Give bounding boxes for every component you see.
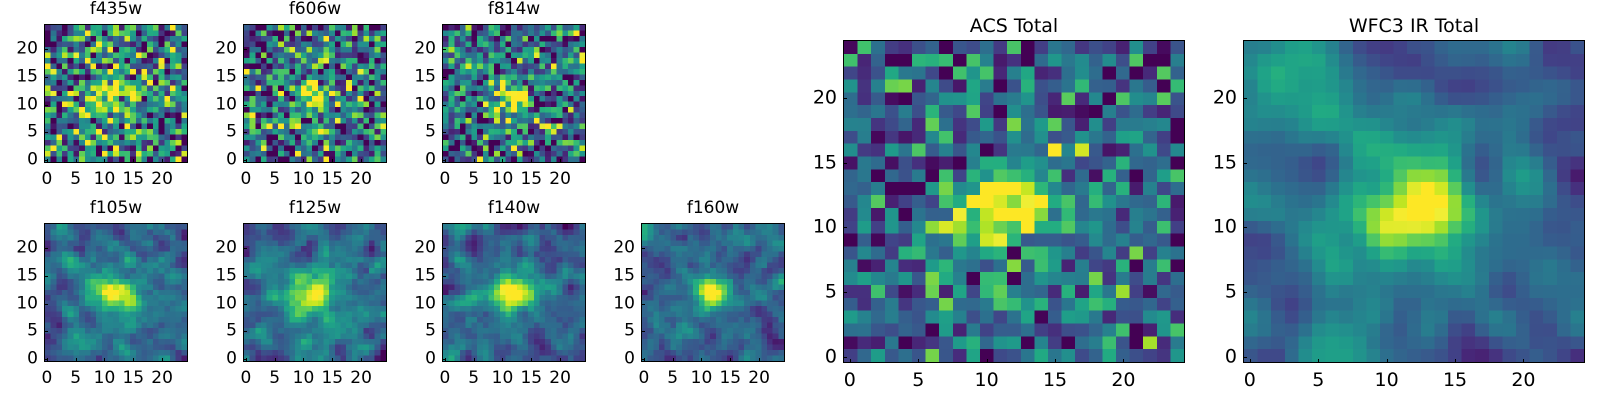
ytick-label-f160w-10: 10 — [601, 295, 635, 312]
xtick-mark-f105w-15 — [133, 358, 134, 362]
panel-wfc3-ir-total: WFC3 IR Total0510152005101520 — [1203, 14, 1585, 389]
heatmap-axes-f160w — [641, 223, 785, 362]
xtick-label-f125w-0: 0 — [240, 370, 251, 387]
heatmap-image-f814w — [443, 25, 585, 162]
ytick-label-f606w-15: 15 — [203, 68, 237, 85]
ytick-label-f105w-0: 0 — [4, 351, 38, 368]
ytick-mark-acs-total-5 — [843, 292, 847, 293]
xtick-mark-f814w-10 — [502, 159, 503, 163]
ytick-mark-f606w-15 — [243, 77, 247, 78]
heatmap-image-f105w — [45, 224, 187, 361]
xtick-mark-f606w-10 — [303, 159, 304, 163]
ytick-mark-f140w-0 — [442, 359, 446, 360]
panel-title-f125w: f125w — [243, 200, 387, 217]
xtick-label-acs-total-5: 5 — [912, 371, 924, 390]
xtick-label-wfc3-ir-total-20: 20 — [1511, 371, 1535, 390]
panel-f140w: f140w0510152005101520 — [402, 197, 586, 388]
ytick-label-f125w-20: 20 — [203, 240, 237, 257]
ytick-mark-f105w-0 — [44, 359, 48, 360]
xtick-label-f125w-10: 10 — [293, 370, 315, 387]
xtick-label-wfc3-ir-total-5: 5 — [1312, 371, 1324, 390]
xtick-mark-wfc3-ir-total-5 — [1318, 359, 1319, 363]
xtick-mark-f125w-5 — [275, 358, 276, 362]
ytick-label-f435w-15: 15 — [4, 68, 38, 85]
ytick-label-f125w-10: 10 — [203, 295, 237, 312]
heatmap-axes-f125w — [243, 223, 387, 362]
xtick-mark-f160w-15 — [730, 358, 731, 362]
xtick-label-acs-total-20: 20 — [1111, 371, 1135, 390]
xtick-label-f814w-0: 0 — [439, 171, 450, 188]
xtick-mark-acs-total-20 — [1123, 359, 1124, 363]
ytick-label-acs-total-20: 20 — [803, 89, 837, 108]
ytick-label-wfc3-ir-total-10: 10 — [1203, 218, 1237, 237]
ytick-mark-wfc3-ir-total-10 — [1243, 227, 1247, 228]
ytick-mark-wfc3-ir-total-15 — [1243, 163, 1247, 164]
xtick-label-f125w-15: 15 — [321, 370, 343, 387]
ytick-label-f160w-20: 20 — [601, 240, 635, 257]
panel-title-f140w: f140w — [442, 200, 586, 217]
xtick-mark-f814w-20 — [560, 159, 561, 163]
ytick-label-f814w-10: 10 — [402, 96, 436, 113]
xtick-label-f160w-10: 10 — [691, 370, 713, 387]
panel-f105w: f105w0510152005101520 — [4, 197, 188, 388]
ytick-mark-f435w-15 — [44, 77, 48, 78]
xtick-mark-f435w-5 — [76, 159, 77, 163]
ytick-label-f160w-5: 5 — [601, 323, 635, 340]
ytick-label-f105w-20: 20 — [4, 240, 38, 257]
ytick-mark-f160w-0 — [641, 359, 645, 360]
xtick-label-wfc3-ir-total-10: 10 — [1375, 371, 1399, 390]
xtick-label-f435w-5: 5 — [70, 171, 81, 188]
xtick-mark-f606w-5 — [275, 159, 276, 163]
ytick-mark-acs-total-15 — [843, 163, 847, 164]
xtick-mark-f160w-10 — [701, 358, 702, 362]
xtick-label-f606w-15: 15 — [321, 171, 343, 188]
panel-f160w: f160w0510152005101520 — [601, 197, 785, 388]
ytick-label-f125w-0: 0 — [203, 351, 237, 368]
xtick-label-f606w-0: 0 — [240, 171, 251, 188]
ytick-mark-f160w-20 — [641, 248, 645, 249]
ytick-label-wfc3-ir-total-20: 20 — [1203, 89, 1237, 108]
ytick-label-wfc3-ir-total-0: 0 — [1203, 347, 1237, 366]
xtick-mark-f435w-20 — [162, 159, 163, 163]
ytick-mark-acs-total-0 — [843, 357, 847, 358]
xtick-mark-f140w-10 — [502, 358, 503, 362]
xtick-label-f140w-5: 5 — [468, 370, 479, 387]
ytick-mark-f140w-15 — [442, 276, 446, 277]
ytick-mark-f606w-20 — [243, 49, 247, 50]
heatmap-axes-f606w — [243, 24, 387, 163]
xtick-mark-f160w-20 — [759, 358, 760, 362]
xtick-label-f814w-15: 15 — [520, 171, 542, 188]
xtick-label-f814w-10: 10 — [492, 171, 514, 188]
ytick-mark-acs-total-10 — [843, 227, 847, 228]
xtick-label-f435w-10: 10 — [94, 171, 116, 188]
heatmap-image-f606w — [244, 25, 386, 162]
xtick-label-f105w-0: 0 — [41, 370, 52, 387]
ytick-mark-f606w-10 — [243, 105, 247, 106]
xtick-label-f435w-15: 15 — [122, 171, 144, 188]
xtick-label-f160w-0: 0 — [638, 370, 649, 387]
ytick-label-f606w-5: 5 — [203, 124, 237, 141]
xtick-label-f125w-5: 5 — [269, 370, 280, 387]
ytick-label-f435w-5: 5 — [4, 124, 38, 141]
ytick-mark-f606w-5 — [243, 132, 247, 133]
xtick-label-f105w-10: 10 — [94, 370, 116, 387]
ytick-mark-f105w-5 — [44, 331, 48, 332]
panel-acs-total: ACS Total0510152005101520 — [803, 14, 1185, 389]
ytick-label-wfc3-ir-total-15: 15 — [1203, 153, 1237, 172]
heatmap-axes-acs-total — [843, 40, 1185, 363]
xtick-label-f105w-15: 15 — [122, 370, 144, 387]
ytick-label-f160w-15: 15 — [601, 267, 635, 284]
xtick-mark-f814w-5 — [474, 159, 475, 163]
ytick-label-f105w-15: 15 — [4, 267, 38, 284]
ytick-label-f814w-0: 0 — [402, 152, 436, 169]
ytick-mark-f160w-15 — [641, 276, 645, 277]
ytick-mark-f105w-10 — [44, 304, 48, 305]
xtick-label-f160w-20: 20 — [748, 370, 770, 387]
ytick-mark-f814w-15 — [442, 77, 446, 78]
xtick-mark-wfc3-ir-total-10 — [1387, 359, 1388, 363]
ytick-label-f105w-5: 5 — [4, 323, 38, 340]
ytick-label-f140w-0: 0 — [402, 351, 436, 368]
ytick-mark-f160w-5 — [641, 331, 645, 332]
xtick-mark-f125w-20 — [361, 358, 362, 362]
xtick-mark-f606w-20 — [361, 159, 362, 163]
xtick-label-f435w-20: 20 — [151, 171, 173, 188]
ytick-label-f105w-10: 10 — [4, 295, 38, 312]
ytick-label-wfc3-ir-total-5: 5 — [1203, 282, 1237, 301]
xtick-mark-f125w-15 — [332, 358, 333, 362]
ytick-label-f160w-0: 0 — [601, 351, 635, 368]
heatmap-image-wfc3-ir-total — [1244, 41, 1584, 362]
xtick-mark-f435w-10 — [104, 159, 105, 163]
ytick-label-acs-total-15: 15 — [803, 153, 837, 172]
xtick-label-f105w-20: 20 — [151, 370, 173, 387]
xtick-mark-f105w-10 — [104, 358, 105, 362]
heatmap-axes-wfc3-ir-total — [1243, 40, 1585, 363]
xtick-label-f140w-10: 10 — [492, 370, 514, 387]
ytick-label-f606w-0: 0 — [203, 152, 237, 169]
ytick-label-f814w-20: 20 — [402, 41, 436, 58]
xtick-mark-f105w-5 — [76, 358, 77, 362]
heatmap-image-f435w — [45, 25, 187, 162]
ytick-label-f606w-10: 10 — [203, 96, 237, 113]
xtick-label-f606w-20: 20 — [350, 171, 372, 188]
xtick-label-wfc3-ir-total-15: 15 — [1443, 371, 1467, 390]
xtick-label-f140w-20: 20 — [549, 370, 571, 387]
panel-title-acs-total: ACS Total — [843, 17, 1185, 36]
xtick-label-f140w-0: 0 — [439, 370, 450, 387]
ytick-mark-wfc3-ir-total-5 — [1243, 292, 1247, 293]
ytick-mark-f435w-0 — [44, 160, 48, 161]
ytick-mark-wfc3-ir-total-20 — [1243, 98, 1247, 99]
xtick-mark-acs-total-5 — [918, 359, 919, 363]
xtick-label-f140w-15: 15 — [520, 370, 542, 387]
panel-f125w: f125w0510152005101520 — [203, 197, 387, 388]
xtick-mark-f140w-5 — [474, 358, 475, 362]
ytick-mark-f814w-0 — [442, 160, 446, 161]
ytick-mark-f140w-5 — [442, 331, 446, 332]
ytick-mark-f125w-5 — [243, 331, 247, 332]
xtick-mark-acs-total-0 — [850, 359, 851, 363]
panel-title-f435w: f435w — [44, 1, 188, 18]
xtick-mark-wfc3-ir-total-0 — [1250, 359, 1251, 363]
xtick-label-f160w-5: 5 — [667, 370, 678, 387]
xtick-label-f435w-0: 0 — [41, 171, 52, 188]
panel-f814w: f814w0510152005101520 — [402, 0, 586, 189]
xtick-label-acs-total-0: 0 — [844, 371, 856, 390]
ytick-mark-f105w-20 — [44, 248, 48, 249]
ytick-label-f125w-5: 5 — [203, 323, 237, 340]
ytick-mark-f435w-20 — [44, 49, 48, 50]
panel-title-f105w: f105w — [44, 200, 188, 217]
heatmap-image-f125w — [244, 224, 386, 361]
heatmap-image-f140w — [443, 224, 585, 361]
xtick-mark-f105w-20 — [162, 358, 163, 362]
xtick-mark-f435w-15 — [133, 159, 134, 163]
xtick-mark-f814w-15 — [531, 159, 532, 163]
panel-f435w: f435w0510152005101520 — [4, 0, 188, 189]
ytick-label-f125w-15: 15 — [203, 267, 237, 284]
ytick-label-f814w-15: 15 — [402, 68, 436, 85]
ytick-label-f140w-5: 5 — [402, 323, 436, 340]
ytick-mark-f125w-10 — [243, 304, 247, 305]
ytick-label-f435w-0: 0 — [4, 152, 38, 169]
xtick-label-f814w-20: 20 — [549, 171, 571, 188]
xtick-label-f125w-20: 20 — [350, 370, 372, 387]
ytick-label-acs-total-5: 5 — [803, 282, 837, 301]
panel-f606w: f606w0510152005101520 — [203, 0, 387, 189]
xtick-mark-f140w-20 — [560, 358, 561, 362]
heatmap-image-f160w — [642, 224, 784, 361]
xtick-label-f606w-10: 10 — [293, 171, 315, 188]
xtick-label-f606w-5: 5 — [269, 171, 280, 188]
ytick-mark-f606w-0 — [243, 160, 247, 161]
heatmap-axes-f105w — [44, 223, 188, 362]
xtick-label-acs-total-15: 15 — [1043, 371, 1067, 390]
xtick-mark-f160w-5 — [673, 358, 674, 362]
xtick-mark-acs-total-10 — [987, 359, 988, 363]
ytick-mark-f814w-5 — [442, 132, 446, 133]
ytick-label-f435w-10: 10 — [4, 96, 38, 113]
ytick-label-f814w-5: 5 — [402, 124, 436, 141]
xtick-mark-wfc3-ir-total-15 — [1455, 359, 1456, 363]
ytick-mark-f105w-15 — [44, 276, 48, 277]
panel-title-f606w: f606w — [243, 1, 387, 18]
ytick-mark-f140w-20 — [442, 248, 446, 249]
heatmap-axes-f140w — [442, 223, 586, 362]
ytick-label-f435w-20: 20 — [4, 41, 38, 58]
heatmap-axes-f435w — [44, 24, 188, 163]
xtick-mark-acs-total-15 — [1055, 359, 1056, 363]
ytick-mark-acs-total-20 — [843, 98, 847, 99]
xtick-label-f160w-15: 15 — [719, 370, 741, 387]
xtick-mark-f606w-15 — [332, 159, 333, 163]
panel-title-wfc3-ir-total: WFC3 IR Total — [1243, 17, 1585, 36]
xtick-mark-f125w-10 — [303, 358, 304, 362]
xtick-label-f105w-5: 5 — [70, 370, 81, 387]
ytick-mark-f140w-10 — [442, 304, 446, 305]
ytick-label-f140w-10: 10 — [402, 295, 436, 312]
ytick-mark-f125w-0 — [243, 359, 247, 360]
ytick-mark-f125w-20 — [243, 248, 247, 249]
ytick-label-acs-total-10: 10 — [803, 218, 837, 237]
heatmap-axes-f814w — [442, 24, 586, 163]
ytick-mark-f160w-10 — [641, 304, 645, 305]
figure-canvas: f435w0510152005101520f606w05101520051015… — [0, 0, 1600, 400]
ytick-mark-f125w-15 — [243, 276, 247, 277]
xtick-mark-wfc3-ir-total-20 — [1523, 359, 1524, 363]
ytick-mark-f814w-10 — [442, 105, 446, 106]
xtick-mark-f140w-15 — [531, 358, 532, 362]
ytick-mark-f435w-5 — [44, 132, 48, 133]
ytick-mark-wfc3-ir-total-0 — [1243, 357, 1247, 358]
xtick-label-wfc3-ir-total-0: 0 — [1244, 371, 1256, 390]
xtick-label-f814w-5: 5 — [468, 171, 479, 188]
panel-title-f160w: f160w — [641, 200, 785, 217]
panel-title-f814w: f814w — [442, 1, 586, 18]
xtick-label-acs-total-10: 10 — [975, 371, 999, 390]
ytick-label-f140w-20: 20 — [402, 240, 436, 257]
ytick-mark-f814w-20 — [442, 49, 446, 50]
ytick-label-f140w-15: 15 — [402, 267, 436, 284]
ytick-label-f606w-20: 20 — [203, 41, 237, 58]
heatmap-image-acs-total — [844, 41, 1184, 362]
ytick-label-acs-total-0: 0 — [803, 347, 837, 366]
ytick-mark-f435w-10 — [44, 105, 48, 106]
